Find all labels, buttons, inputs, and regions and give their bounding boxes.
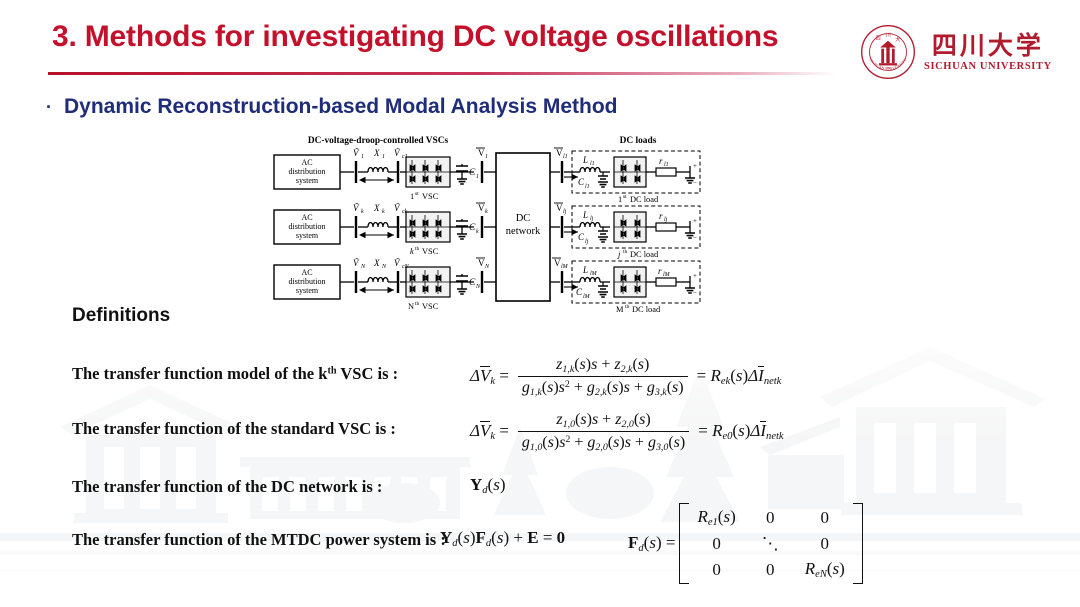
eq1-fraction: z1,k(s)s + z2,k(s) g1,k(s)s2 + g2,k(s)s … — [518, 356, 688, 398]
svg-text:l1: l1 — [563, 154, 568, 160]
svg-text:L: L — [582, 155, 588, 165]
svg-text:system: system — [296, 176, 319, 185]
svg-text:Ṽ: Ṽ — [394, 203, 401, 213]
svg-text:Ṽ: Ṽ — [353, 258, 360, 268]
eq2-denominator: g1,0(s)s2 + g2,0(s)s + g3,0(s) — [518, 431, 689, 453]
svg-text:N: N — [475, 284, 481, 290]
matrix-cell-3-3: ReN(s) — [805, 558, 845, 581]
svg-text:C: C — [578, 232, 585, 242]
svg-text:distribution: distribution — [289, 222, 326, 231]
svg-text:N: N — [360, 264, 366, 270]
svg-text:j: j — [617, 250, 621, 259]
svg-text:Ṽ: Ṽ — [353, 148, 360, 158]
logo-chinese-name: 四川大学 — [932, 33, 1044, 58]
svg-text:V: V — [554, 258, 561, 268]
university-logo: 四川大 1896 SICHUAN UNIVERSITY 四川大学 SICHUAN… — [860, 22, 1066, 82]
svg-text:DC load: DC load — [632, 305, 661, 314]
svg-text:distribution: distribution — [289, 277, 326, 286]
svg-text:C: C — [469, 223, 476, 233]
svg-text:st: st — [415, 191, 419, 197]
subtitle-text: Dynamic Reconstruction-based Modal Analy… — [64, 95, 618, 118]
svg-text:th: th — [625, 304, 630, 310]
svg-text:1: 1 — [382, 154, 385, 160]
svg-text:X: X — [373, 148, 380, 158]
svg-text:lj: lj — [585, 239, 589, 245]
svg-text:VSC: VSC — [422, 192, 439, 201]
svg-text:1: 1 — [485, 154, 488, 160]
svg-text:X: X — [373, 258, 380, 268]
equation-fd-matrix: Fd(s) = Re1(s) 0 0 0 ⋱ 0 0 0 ReN(s) — [628, 503, 863, 584]
page-title-text: 3. Methods for investigating DC voltage … — [52, 20, 778, 53]
matrix-cell-1-2: 0 — [762, 507, 779, 528]
svg-text:DC: DC — [516, 213, 531, 224]
definitions-heading: Definitions — [72, 305, 170, 327]
svg-text:system: system — [296, 286, 319, 295]
svg-text:r: r — [659, 156, 663, 166]
sichuan-university-seal-icon: 四川大 1896 SICHUAN UNIVERSITY — [860, 24, 916, 80]
title-underline — [48, 72, 836, 75]
svg-text:lM: lM — [561, 264, 569, 270]
svg-text:−: − — [693, 179, 697, 187]
eq1-right-side: = Rek(s)ΔInetk — [697, 366, 782, 385]
svg-text:k: k — [382, 209, 385, 215]
svg-text:lj: lj — [590, 216, 594, 222]
fd-matrix: Re1(s) 0 0 0 ⋱ 0 0 0 ReN(s) — [679, 503, 862, 584]
matrix-right-bracket — [853, 503, 863, 584]
vsc-row-1: AC distribution system Ṽ 1 X 1 Ṽ c1 1 st… — [274, 148, 496, 201]
matrix-cell-1-1: Re1(s) — [697, 506, 735, 529]
eq1-numerator: z1,k(s)s + z2,k(s) — [552, 356, 653, 376]
svg-text:AC: AC — [301, 213, 312, 222]
equation-standard-vsc-transfer-function: ΔVk = z1,0(s)s + z2,0(s) g1,0(s)s2 + g2,… — [470, 411, 784, 453]
svg-text:L: L — [582, 210, 588, 220]
svg-text:distribution: distribution — [289, 167, 326, 176]
svg-text:VSC: VSC — [422, 302, 439, 311]
svg-text:+: + — [693, 162, 697, 170]
definition-line-3: The transfer function of the DC network … — [72, 477, 382, 497]
matrix-cell-3-2: 0 — [762, 559, 779, 580]
matrix-cell-2-1: 0 — [697, 533, 735, 554]
equation-vsc-transfer-function: ΔVk = z1,k(s)s + z2,k(s) g1,k(s)s2 + g2,… — [470, 356, 781, 398]
svg-text:N: N — [484, 264, 490, 270]
svg-text:VSC: VSC — [422, 247, 439, 256]
svg-text:DC load: DC load — [630, 195, 659, 204]
definition-line-1: The transfer function model of the kth V… — [72, 364, 398, 384]
svg-text:st: st — [623, 194, 627, 200]
svg-text:l1: l1 — [590, 161, 595, 167]
svg-text:l1: l1 — [585, 184, 590, 190]
svg-text:lj: lj — [664, 217, 668, 223]
svg-text:V: V — [478, 148, 485, 158]
svg-text:1: 1 — [361, 154, 364, 160]
svg-text:1: 1 — [410, 192, 414, 201]
dc-load-row-2: V lj L lj C lj r lj + − j th — [550, 203, 700, 259]
svg-text:k: k — [410, 247, 414, 256]
eq1-denominator: g1,k(s)s2 + g2,k(s)s + g3,k(s) — [518, 376, 688, 398]
svg-text:V: V — [556, 203, 563, 213]
svg-text:r: r — [658, 266, 662, 276]
svg-text:+: + — [693, 217, 697, 225]
svg-text:Ṽ: Ṽ — [394, 148, 401, 158]
svg-text:1: 1 — [476, 174, 479, 180]
vsc-row-2: AC distribution system Ṽ k X k Ṽ ck k th… — [274, 203, 496, 256]
svg-text:l1: l1 — [664, 162, 669, 168]
matrix-cell-2-2: ⋱ — [762, 533, 779, 554]
definition-line-4: The transfer function of the MTDC power … — [72, 530, 446, 550]
vsc-row-3: AC distribution system Ṽ N X N Ṽ cN N th… — [274, 258, 496, 311]
svg-text:N: N — [408, 302, 414, 311]
diagram-label-dc-loads: DC loads — [620, 136, 657, 146]
equation-mtdc-system: Yd(s)Fd(s) + E = 0 — [440, 528, 565, 549]
matrix-cell-1-3: 0 — [805, 507, 845, 528]
definition-line-2: The transfer function of the standard VS… — [72, 419, 396, 439]
svg-text:lM: lM — [583, 294, 591, 300]
svg-text:川: 川 — [886, 32, 891, 38]
definition-line-1-tail: VSC is : — [337, 364, 399, 383]
matrix-cell-2-3: 0 — [805, 533, 845, 554]
eq3-arg: (s) — [488, 475, 506, 494]
svg-text:大: 大 — [895, 36, 900, 43]
svg-text:lM: lM — [590, 271, 598, 277]
background-watermark — [0, 307, 1080, 607]
logo-english-name: SICHUAN UNIVERSITY — [924, 61, 1052, 72]
svg-text:Ṽ: Ṽ — [394, 258, 401, 268]
svg-text:Ṽ: Ṽ — [353, 203, 360, 213]
bullet-icon: · — [46, 97, 52, 117]
svg-text:th: th — [623, 249, 628, 255]
eq2-numerator: z1,0(s)s + z2,0(s) — [552, 411, 654, 431]
eq1-lhs-subscript: k — [490, 376, 495, 387]
eq3-symbol: Y — [470, 475, 482, 494]
svg-text:k: k — [485, 209, 488, 215]
svg-text:r: r — [659, 211, 663, 221]
svg-text:lj: lj — [563, 209, 567, 215]
svg-text:DC load: DC load — [630, 250, 659, 259]
diagram-label-vsc-group: DC-voltage-droop-controlled VSCs — [308, 136, 449, 146]
svg-text:AC: AC — [301, 268, 312, 277]
svg-text:k: k — [361, 209, 364, 215]
svg-text:C: C — [469, 168, 476, 178]
svg-text:C: C — [578, 177, 585, 187]
svg-text:C: C — [576, 287, 583, 297]
svg-text:network: network — [506, 226, 541, 237]
svg-text:X: X — [373, 203, 380, 213]
definition-line-1-sup: th — [327, 366, 336, 377]
svg-text:k: k — [476, 229, 479, 235]
matrix-left-bracket — [679, 503, 689, 584]
eq2-lhs-subscript: k — [490, 431, 495, 442]
svg-text:M: M — [616, 305, 624, 314]
mtdc-system-circuit-diagram: DC-voltage-droop-controlled VSCs DC load… — [270, 133, 770, 329]
svg-text:V: V — [556, 148, 563, 158]
slide-root: 3. Methods for investigating DC voltage … — [0, 0, 1080, 607]
svg-text:th: th — [415, 301, 420, 307]
svg-text:lM: lM — [663, 272, 671, 278]
eq2-right-side: = Re0(s)ΔInetk — [698, 421, 783, 440]
eq2-fraction: z1,0(s)s + z2,0(s) g1,0(s)s2 + g2,0(s)s … — [518, 411, 689, 453]
svg-text:th: th — [415, 246, 420, 252]
definition-line-1-text: The transfer function model of the k — [72, 364, 327, 383]
svg-text:−: − — [693, 234, 697, 242]
svg-text:V: V — [478, 258, 485, 268]
svg-text:V: V — [478, 203, 485, 213]
svg-text:AC: AC — [301, 158, 312, 167]
svg-text:−: − — [693, 289, 697, 297]
equation-dc-network-transfer-function: Yd(s) — [470, 475, 506, 496]
page-title: 3. Methods for investigating DC voltage … — [52, 20, 778, 53]
svg-text:system: system — [296, 231, 319, 240]
svg-text:C: C — [469, 278, 476, 288]
svg-text:+: + — [693, 272, 697, 280]
dc-load-row-3: V lM L lM C lM r lM + − M th — [550, 258, 700, 314]
svg-text:L: L — [582, 265, 588, 275]
svg-text:N: N — [381, 264, 387, 270]
svg-text:1: 1 — [618, 195, 622, 204]
matrix-cell-3-1: 0 — [697, 559, 735, 580]
svg-text:四: 四 — [876, 36, 881, 42]
subtitle: ·Dynamic Reconstruction-based Modal Anal… — [46, 95, 618, 119]
dc-load-row-1: V l1 L l1 C l1 r l1 + − 1 st — [550, 148, 700, 204]
